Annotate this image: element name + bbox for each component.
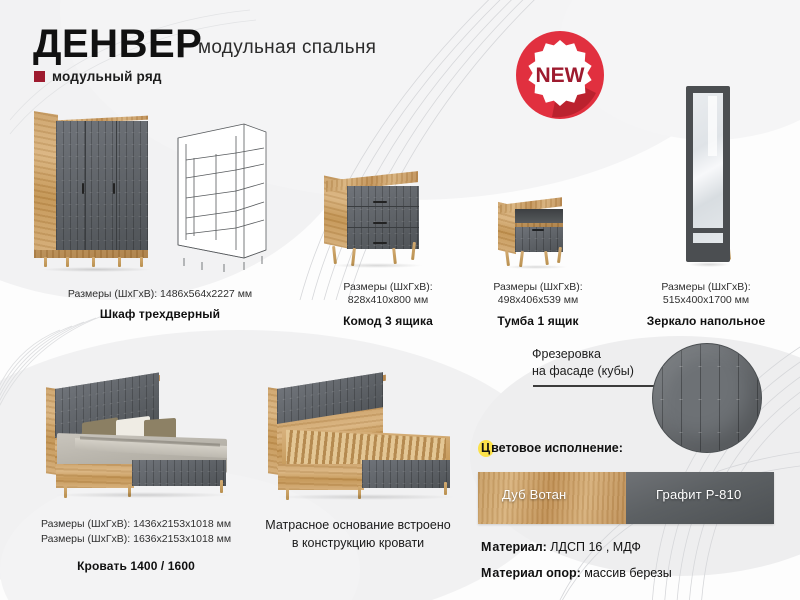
name-bed: Кровать 1400 / 1600 — [16, 559, 256, 573]
dims-bed-1600: Размеры (ШхГхВ): 1636х2153х1018 мм — [16, 533, 256, 546]
milling-text: Фрезеровка на фасаде (кубы) — [532, 347, 634, 378]
material-2-highlight: М — [480, 566, 492, 580]
new-badge-text: NEW — [536, 64, 585, 87]
circle-shading — [653, 344, 761, 452]
series-label: модульный ряд — [52, 69, 162, 84]
caption-mirror: Размеры (ШхГхВ): 515х400х1700 мм Зеркало… — [620, 281, 792, 328]
caption-nightstand: Размеры (ШхГхВ): 498х406х539 мм Тумба 1 … — [456, 281, 620, 328]
product-image-wardrobe — [34, 107, 154, 272]
product-schematic-wardrobe — [172, 112, 272, 272]
product-image-bed-frame — [252, 380, 468, 500]
color-label-highlight: Ц — [480, 441, 491, 455]
material-2-value: массив березы — [581, 566, 672, 580]
material-1-label: атериал: — [492, 540, 546, 554]
dims-chest: Размеры (ШхГхВ): 828х410х800 мм — [302, 281, 474, 308]
new-badge: NEW — [512, 27, 608, 123]
series-marker-icon — [34, 71, 45, 82]
product-image-nightstand — [496, 196, 576, 272]
color-section-label: Цветовое исполнение: — [480, 441, 623, 455]
name-wardrobe: Шкаф трехдверный — [22, 307, 298, 321]
dims-nightstand: Размеры (ШхГхВ): 498х406х539 мм — [456, 281, 620, 308]
swatch-graphite: Графит Р-810 — [626, 472, 774, 524]
product-sheet: ДЕНВЕР модульная спальня модульный ряд N… — [0, 0, 800, 600]
swatch-oak-label: Дуб Вотан — [502, 487, 566, 502]
swatch-oak: Дуб Вотан — [478, 472, 626, 524]
dims-wardrobe: Размеры (ШхГхВ): 1486х564х2227 мм — [22, 288, 298, 301]
color-label-rest: ветовое исполнение: — [491, 441, 623, 455]
swatch-graphite-label: Графит Р-810 — [656, 487, 741, 502]
milling-label: Фрезеровка на фасаде (кубы) — [532, 346, 634, 380]
product-image-bed-made — [30, 380, 246, 500]
material-2-label: атериал опор: — [492, 566, 580, 580]
series-row: модульный ряд — [34, 69, 162, 84]
milling-detail-circle — [652, 343, 762, 453]
product-image-chest — [321, 172, 427, 272]
caption-wardrobe: Размеры (ШхГхВ): 1486х564х2227 мм Шкаф т… — [22, 288, 298, 321]
material-row-1: Материал: ЛДСП 16 , МДФ — [480, 540, 641, 554]
color-swatches: Дуб Вотан Графит Р-810 — [478, 472, 774, 524]
name-mirror: Зеркало напольное — [620, 314, 792, 328]
material-1-highlight: М — [480, 540, 492, 554]
material-row-2: Материал опор: массив березы — [480, 566, 672, 580]
page-title: ДЕНВЕР — [33, 24, 202, 64]
bed-note: Матрасное основание встроено в конструкц… — [244, 516, 472, 552]
page-subtitle: модульная спальня — [198, 37, 376, 59]
product-image-mirror — [672, 80, 742, 272]
material-1-value: ЛДСП 16 , МДФ — [547, 540, 641, 554]
caption-bed: Размеры (ШхГхВ): 1436х2153х1018 мм Разме… — [16, 518, 256, 573]
caption-chest: Размеры (ШхГхВ): 828х410х800 мм Комод 3 … — [302, 281, 474, 328]
name-nightstand: Тумба 1 ящик — [456, 314, 620, 328]
name-chest: Комод 3 ящика — [302, 314, 474, 328]
dims-bed-1400: Размеры (ШхГхВ): 1436х2153х1018 мм — [16, 518, 256, 531]
dims-mirror: Размеры (ШхГхВ): 515х400х1700 мм — [620, 281, 792, 308]
bed-note-text: Матрасное основание встроено в конструкц… — [244, 516, 472, 552]
